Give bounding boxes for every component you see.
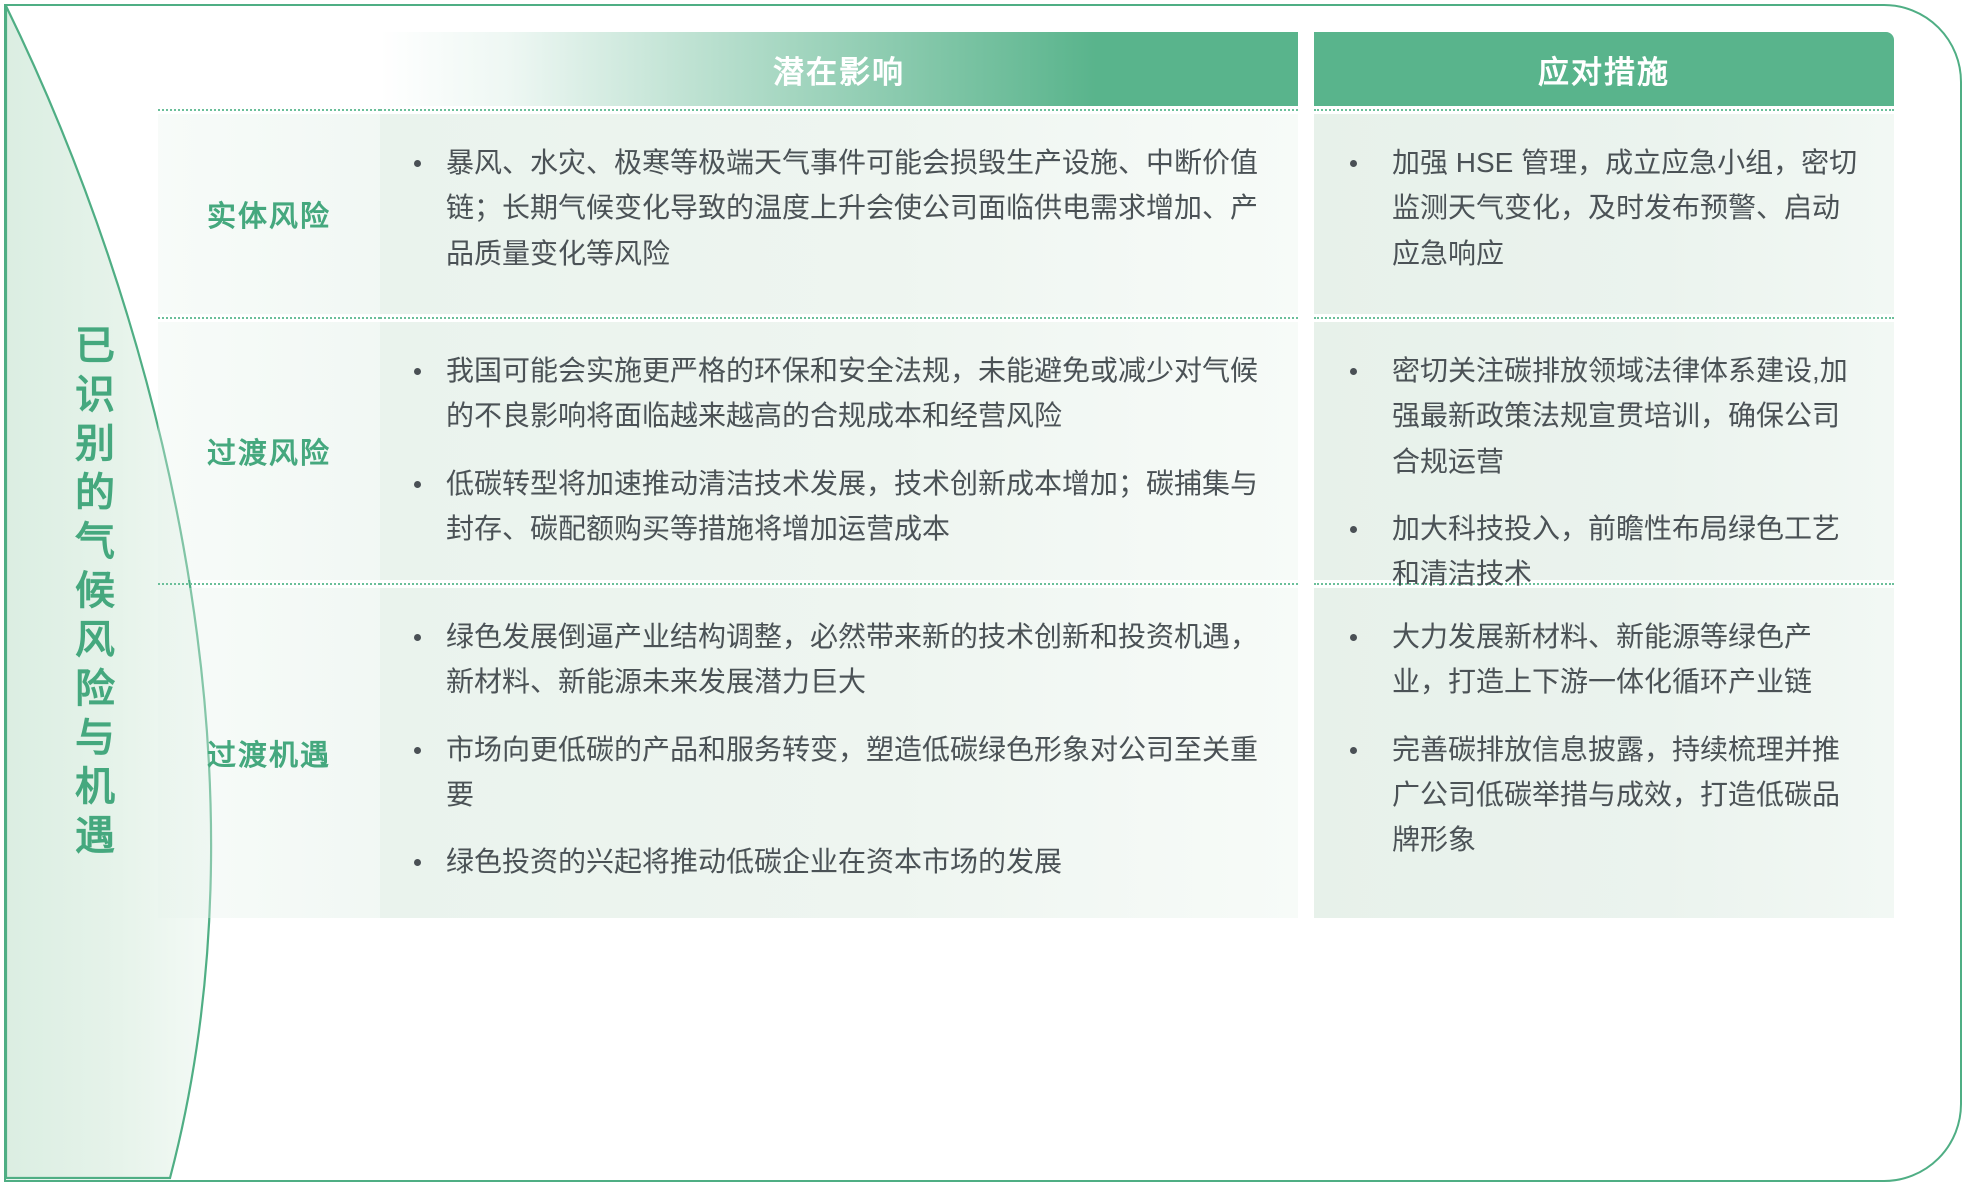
row-divider [158,314,1910,322]
row-label-transition-risk: 过渡风险 [158,322,380,580]
section-title-vertical: 已识别的气候风险与机遇 [36,0,146,1186]
row-label-transition-opportunity: 过渡机遇 [158,588,380,918]
row-impact-cell: 绿色发展倒逼产业结构调整，必然带来新的技术创新和投资机遇，新材料、新能源未来发展… [380,588,1298,918]
list-item: 低碳转型将加速推动清洁技术发展，技术创新成本增加；碳捕集与封存、碳配额购买等措施… [406,461,1268,552]
list-item: 我国可能会实施更严格的环保和安全法规，未能避免或减少对气候的不良影响将面临越来越… [406,348,1268,439]
row-divider-segment [158,583,380,585]
list-item: 加强 HSE 管理，成立应急小组，密切监测天气变化，及时发布预警、启动应急响应 [1340,140,1864,276]
slide-canvas: 已识别的气候风险与机遇 潜在影响 应对措施 实体风险 暴风、水灾、极寒等极端天气… [0,0,1968,1186]
row-divider-segment [380,583,1298,585]
row-action-cell: 大力发展新材料、新能源等绿色产业，打造上下游一体化循环产业链 完善碳排放信息披露… [1314,588,1894,918]
row-impact-cell: 我国可能会实施更严格的环保和安全法规，未能避免或减少对气候的不良影响将面临越来越… [380,322,1298,580]
row-label-physical-risk: 实体风险 [158,114,380,314]
column-gap [1298,114,1314,314]
row-divider-segment [380,109,1298,111]
risk-opportunity-table: 潜在影响 应对措施 实体风险 暴风、水灾、极寒等极端天气事件可能会损毁生产设施、… [158,32,1910,1150]
row-divider-segment [158,109,380,111]
list-item: 绿色发展倒逼产业结构调整，必然带来新的技术创新和投资机遇，新材料、新能源未来发展… [406,614,1268,705]
list-item: 暴风、水灾、极寒等极端天气事件可能会损毁生产设施、中断价值链；长期气候变化导致的… [406,140,1268,276]
bullet-list: 大力发展新材料、新能源等绿色产业，打造上下游一体化循环产业链 完善碳排放信息披露… [1340,614,1864,863]
bullet-list: 暴风、水灾、极寒等极端天气事件可能会损毁生产设施、中断价值链；长期气候变化导致的… [406,140,1268,276]
row-divider-segment [380,317,1298,319]
list-item: 绿色投资的兴起将推动低碳企业在资本市场的发展 [406,839,1268,884]
row-divider-segment [1314,109,1894,111]
row-action-cell: 密切关注碳排放领域法律体系建设,加强最新政策法规宣贯培训，确保公司合规运营 加大… [1314,322,1894,580]
table-row: 实体风险 暴风、水灾、极寒等极端天气事件可能会损毁生产设施、中断价值链；长期气候… [158,114,1910,314]
column-gap [1298,32,1314,106]
row-impact-cell: 暴风、水灾、极寒等极端天气事件可能会损毁生产设施、中断价值链；长期气候变化导致的… [380,114,1298,314]
table-row: 过渡机遇 绿色发展倒逼产业结构调整，必然带来新的技术创新和投资机遇，新材料、新能… [158,588,1910,918]
section-title-text: 已识别的气候风险与机遇 [71,324,111,863]
bullet-list: 加强 HSE 管理，成立应急小组，密切监测天气变化，及时发布预警、启动应急响应 [1340,140,1864,276]
bullet-list: 绿色发展倒逼产业结构调整，必然带来新的技术创新和投资机遇，新材料、新能源未来发展… [406,614,1268,885]
list-item: 大力发展新材料、新能源等绿色产业，打造上下游一体化循环产业链 [1340,614,1864,705]
row-action-cell: 加强 HSE 管理，成立应急小组，密切监测天气变化，及时发布预警、启动应急响应 [1314,114,1894,314]
table-header-row: 潜在影响 应对措施 [158,32,1910,106]
header-cell-response-measures: 应对措施 [1314,32,1894,106]
list-item: 加大科技投入，前瞻性布局绿色工艺和清洁技术 [1340,506,1864,597]
row-divider-segment [1314,317,1894,319]
table-row: 过渡风险 我国可能会实施更严格的环保和安全法规，未能避免或减少对气候的不良影响将… [158,322,1910,580]
list-item: 密切关注碳排放领域法律体系建设,加强最新政策法规宣贯培训，确保公司合规运营 [1340,348,1864,484]
list-item: 完善碳排放信息披露，持续梳理并推广公司低碳举措与成效，打造低碳品牌形象 [1340,727,1864,863]
header-cell-potential-impact: 潜在影响 [380,32,1298,106]
bullet-list: 我国可能会实施更严格的环保和安全法规，未能避免或减少对气候的不良影响将面临越来越… [406,348,1268,551]
column-gap [1298,322,1314,580]
row-divider-segment [158,317,380,319]
row-divider [158,106,1910,114]
bullet-list: 密切关注碳排放领域法律体系建设,加强最新政策法规宣贯培训，确保公司合规运营 加大… [1340,348,1864,597]
header-cell-blank [158,32,380,106]
column-gap [1298,588,1314,918]
list-item: 市场向更低碳的产品和服务转变，塑造低碳绿色形象对公司至关重要 [406,727,1268,818]
